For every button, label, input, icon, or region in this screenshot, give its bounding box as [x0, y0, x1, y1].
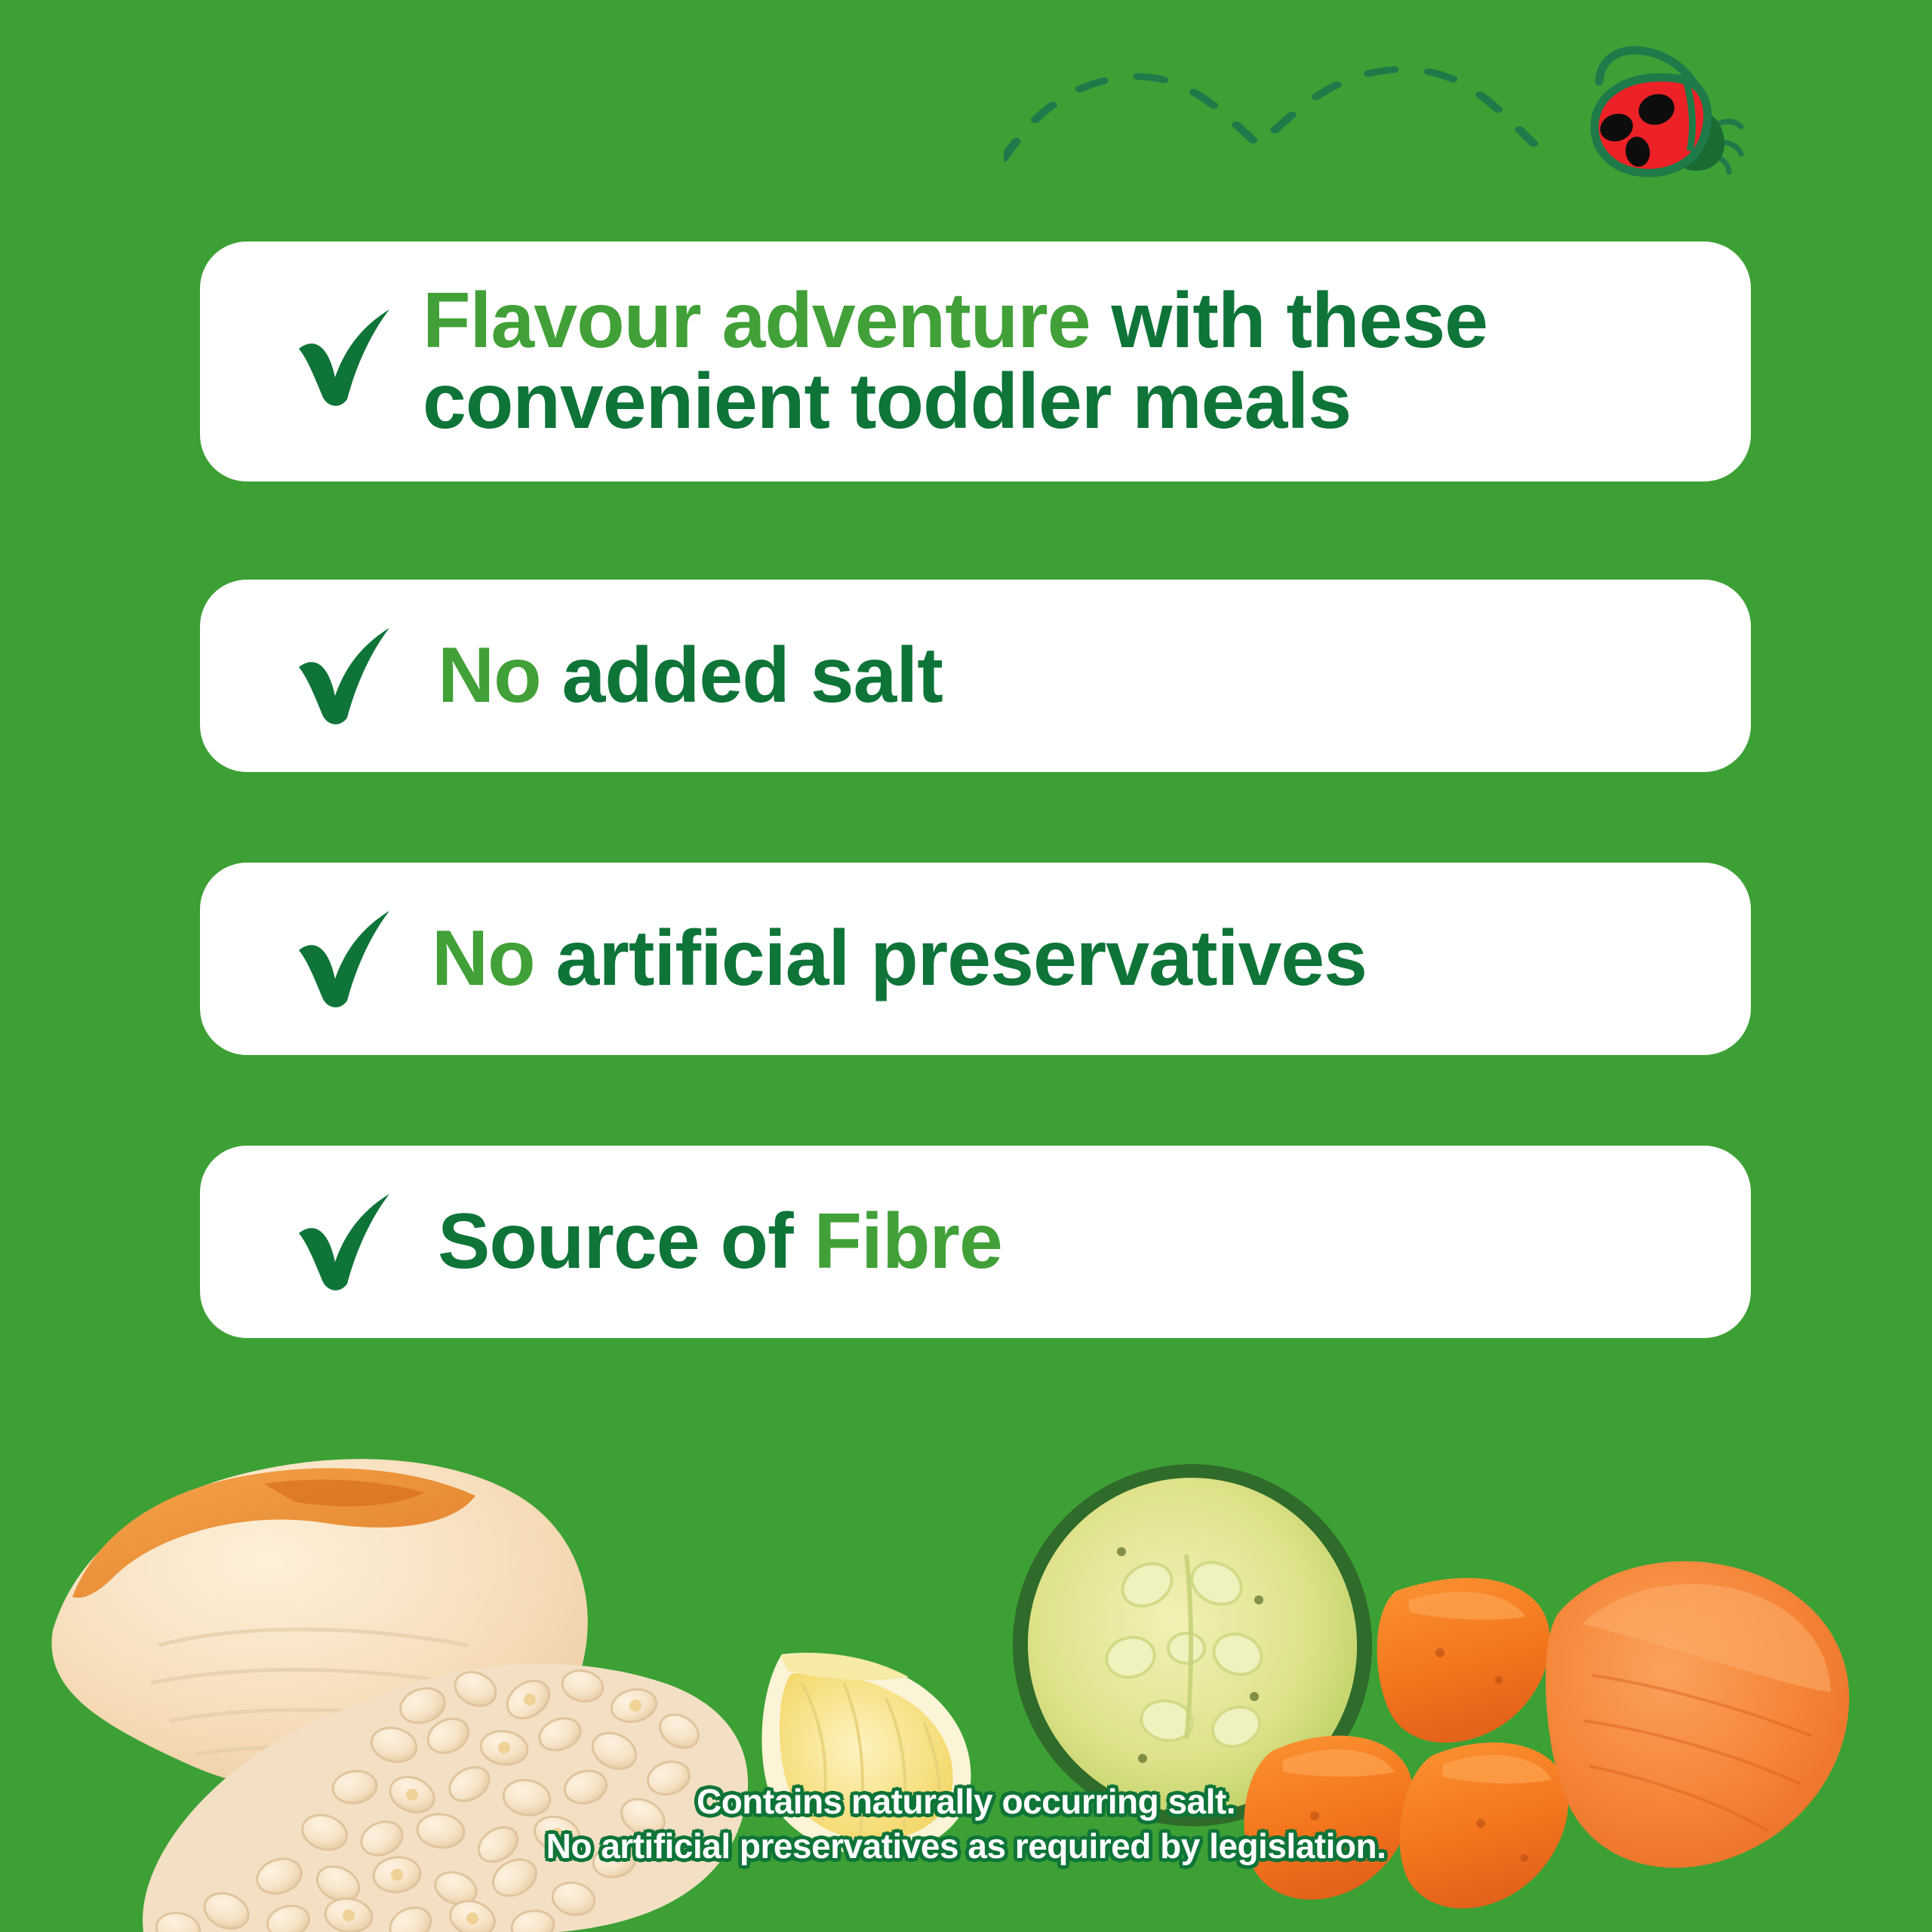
- claim-text: Flavour adventure with these convenient …: [423, 281, 1751, 442]
- claim-text-rest: Source of: [438, 1198, 814, 1285]
- claim-text-highlight: No: [438, 632, 562, 719]
- claim-card[interactable]: No artificial preservatives: [200, 863, 1751, 1055]
- ladybird-icon: [1574, 36, 1762, 180]
- disclaimer-line-2: No artificial preservatives as required …: [0, 1824, 1932, 1869]
- claim-text: Source of Fibre: [438, 1201, 1032, 1282]
- claim-card[interactable]: Source of Fibre: [200, 1146, 1751, 1338]
- claim-text-highlight: Flavour adventure: [423, 277, 1111, 365]
- claim-text-rest: artificial preservatives: [556, 915, 1367, 1002]
- disclaimer-line-1: Contains naturally occurring salt.: [0, 1780, 1932, 1824]
- poster-canvas: Flavour adventure with these convenient …: [0, 0, 1932, 1932]
- check-tick-icon: [272, 1186, 415, 1299]
- claim-card[interactable]: No added salt: [200, 580, 1751, 772]
- dashed-flight-path-icon: [1004, 30, 1638, 166]
- check-tick-icon: [272, 903, 415, 1016]
- claim-text-highlight: No: [432, 915, 556, 1002]
- claim-text: No artificial preservatives: [432, 918, 1397, 999]
- check-tick-icon: [272, 301, 415, 414]
- claim-text-highlight: Fibre: [814, 1198, 1002, 1285]
- disclaimer-text: Contains naturally occurring salt. No ar…: [0, 1780, 1932, 1869]
- claim-text: No added salt: [438, 635, 973, 716]
- check-tick-icon: [272, 620, 415, 733]
- claim-card[interactable]: Flavour adventure with these convenient …: [200, 241, 1751, 481]
- claim-text-rest: added salt: [562, 632, 943, 719]
